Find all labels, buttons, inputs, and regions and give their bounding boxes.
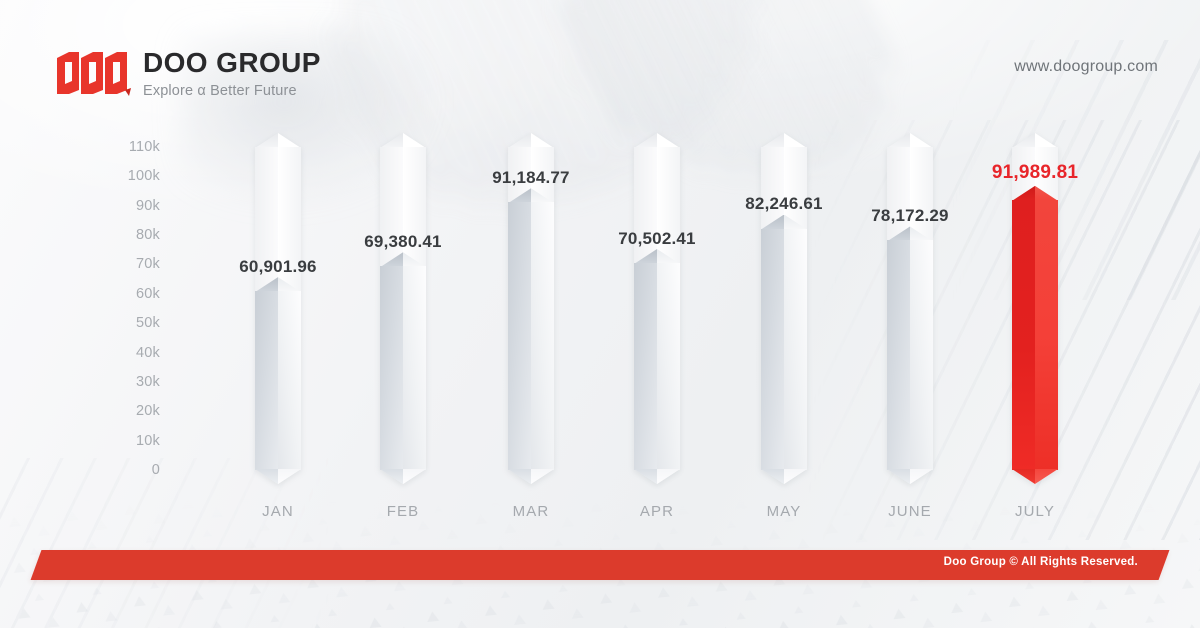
bar-fill[interactable]	[634, 263, 680, 470]
x-axis-category-label: JULY	[965, 503, 1105, 520]
bar-track-top-chevron	[1012, 133, 1058, 148]
bar-top-chevron	[634, 249, 680, 264]
bar-value-label: 91,989.81	[940, 162, 1130, 184]
bar-body	[634, 263, 680, 470]
bar-bottom-chevron	[761, 469, 807, 484]
bar-column[interactable]	[255, 147, 301, 470]
bar-chart: 110k100k90k80k70k60k50k40k30k20k10k060,9…	[0, 0, 1200, 628]
bar-bottom-chevron	[887, 469, 933, 484]
bar-bottom-chevron	[634, 469, 680, 484]
bar-bottom-chevron	[380, 469, 426, 484]
y-axis-tick-label: 10k	[100, 433, 160, 449]
bar-track-top-chevron	[255, 133, 301, 148]
footer-copyright: Doo Group © All Rights Reserved.	[944, 556, 1138, 568]
bar-body	[380, 266, 426, 470]
bar-column[interactable]	[1012, 147, 1058, 470]
bar-fill[interactable]	[887, 240, 933, 470]
bar-top-chevron	[887, 226, 933, 241]
bar-fill[interactable]	[761, 229, 807, 471]
bar-top-chevron	[1012, 186, 1058, 201]
x-axis-category-label: APR	[587, 503, 727, 520]
y-axis-tick-label: 110k	[100, 139, 160, 155]
bar-top-chevron	[761, 215, 807, 230]
bar-value-label: 91,184.77	[436, 168, 626, 188]
bar-body	[508, 202, 554, 470]
bar-top-chevron	[380, 252, 426, 267]
y-axis-tick-label: 50k	[100, 315, 160, 331]
bar-track-top-chevron	[380, 133, 426, 148]
y-axis-tick-label: 90k	[100, 198, 160, 214]
bar-body	[761, 229, 807, 471]
bar-bottom-chevron	[1012, 469, 1058, 484]
bar-value-label: 78,172.29	[815, 206, 1005, 226]
x-axis-category-label: MAY	[714, 503, 854, 520]
y-axis-tick-label: 100k	[100, 168, 160, 184]
bar-column[interactable]	[508, 147, 554, 470]
bar-fill[interactable]	[255, 291, 301, 470]
y-axis-tick-label: 0	[100, 462, 160, 478]
x-axis-category-label: JAN	[208, 503, 348, 520]
x-axis-category-label: JUNE	[840, 503, 980, 520]
y-axis-tick-label: 60k	[100, 286, 160, 302]
bar-top-chevron	[255, 277, 301, 292]
bar-value-label: 70,502.41	[562, 229, 752, 249]
bar-track-top-chevron	[761, 133, 807, 148]
bar-body	[255, 291, 301, 470]
bar-body	[1012, 200, 1058, 470]
bar-value-label: 69,380.41	[308, 232, 498, 252]
y-axis-tick-label: 70k	[100, 256, 160, 272]
bar-track-top-chevron	[508, 133, 554, 148]
bar-fill[interactable]	[380, 266, 426, 470]
bar-fill[interactable]	[508, 202, 554, 470]
y-axis-tick-label: 80k	[100, 227, 160, 243]
bar-top-chevron	[508, 188, 554, 203]
bar-fill-highlighted[interactable]	[1012, 200, 1058, 470]
bar-column[interactable]	[380, 147, 426, 470]
bar-column[interactable]	[634, 147, 680, 470]
y-axis-tick-label: 20k	[100, 403, 160, 419]
infographic-canvas: DOO GROUP Explore α Better Future www.do…	[0, 0, 1200, 628]
y-axis-tick-label: 30k	[100, 374, 160, 390]
bar-bottom-chevron	[255, 469, 301, 484]
y-axis-tick-label: 40k	[100, 345, 160, 361]
bar-value-label: 60,901.96	[183, 257, 373, 277]
x-axis-category-label: MAR	[461, 503, 601, 520]
bar-bottom-chevron	[508, 469, 554, 484]
x-axis-category-label: FEB	[333, 503, 473, 520]
bar-body	[887, 240, 933, 470]
bar-column[interactable]	[887, 147, 933, 470]
bar-track-top-chevron	[887, 133, 933, 148]
bar-track-top-chevron	[634, 133, 680, 148]
